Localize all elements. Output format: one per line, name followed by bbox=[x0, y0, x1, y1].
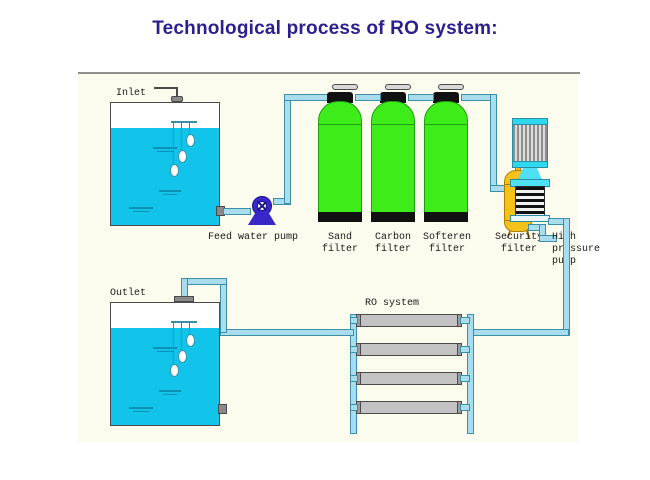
pipe-feedpump-riser bbox=[284, 94, 291, 204]
hpp-motor-bottom-cap bbox=[512, 161, 548, 168]
inlet-faucet-horizontal bbox=[154, 87, 178, 89]
softeren-filter bbox=[424, 92, 468, 232]
outlet-tank-drain-nozzle bbox=[218, 404, 227, 414]
high-pressure-pump bbox=[508, 118, 552, 222]
outlet-float-rod-mid bbox=[181, 321, 182, 351]
feed-pump-base bbox=[248, 212, 276, 225]
ro-membrane-2 bbox=[360, 343, 458, 356]
softeren-filter-inlet-arm bbox=[438, 84, 464, 90]
page-title: Technological process of RO system: bbox=[0, 18, 650, 40]
inlet-tank-water bbox=[111, 128, 219, 225]
pipe-ro-permeate-out bbox=[220, 329, 354, 336]
pipe-sand-to-carbon bbox=[355, 94, 381, 101]
carbon-filter-base bbox=[371, 212, 415, 222]
ro-branch-left-2 bbox=[350, 346, 358, 353]
outlet-water-ripple-5 bbox=[129, 407, 153, 409]
inlet-water-ripple-6 bbox=[133, 211, 149, 212]
softeren-filter-label: Softeren filter bbox=[414, 232, 480, 256]
ro-membrane-3 bbox=[360, 372, 458, 385]
outlet-tank-label: Outlet bbox=[110, 288, 146, 300]
carbon-filter-neck-line bbox=[372, 124, 414, 125]
outlet-float-rod-low bbox=[189, 321, 190, 335]
sand-filter-body bbox=[318, 101, 362, 222]
inlet-water-ripple-3 bbox=[159, 190, 181, 192]
ro-branch-left-1 bbox=[350, 317, 358, 324]
float-switch-mount bbox=[171, 121, 197, 123]
outlet-tank bbox=[110, 302, 220, 426]
carbon-filter bbox=[371, 92, 415, 232]
carbon-filter-inlet-arm bbox=[385, 84, 411, 90]
pipe-tank-to-feedpump bbox=[223, 208, 251, 215]
float-rod-high bbox=[173, 121, 174, 165]
outlet-water-ripple-2 bbox=[157, 351, 173, 352]
float-rod-mid bbox=[181, 121, 182, 151]
ro-branch-right-1 bbox=[460, 317, 470, 324]
pipe-permeate-riser bbox=[220, 278, 227, 333]
outlet-float-ball-high bbox=[170, 364, 179, 377]
float-rod-low bbox=[189, 121, 190, 135]
ro-branch-left-3 bbox=[350, 375, 358, 382]
inlet-water-ripple-4 bbox=[163, 194, 177, 195]
outlet-float-ball-low bbox=[186, 334, 195, 347]
hpp-pump-stages bbox=[515, 186, 545, 216]
softeren-filter-neck-line bbox=[425, 124, 467, 125]
hpp-base-plate bbox=[510, 215, 550, 222]
ro-branch-left-4 bbox=[350, 404, 358, 411]
feed-water-pump-label: Feed water pump bbox=[208, 232, 298, 244]
inlet-water-ripple-5 bbox=[129, 207, 153, 209]
float-ball-low bbox=[186, 134, 195, 147]
feed-water-pump bbox=[248, 196, 276, 225]
ro-branch-right-3 bbox=[460, 375, 470, 382]
outlet-water-ripple-3 bbox=[159, 390, 181, 392]
pipe-hpp-to-ro-drop bbox=[563, 218, 570, 336]
inlet-water-ripple-2 bbox=[157, 151, 173, 152]
outlet-float-ball-mid bbox=[178, 350, 187, 363]
outlet-water-ripple-6 bbox=[133, 411, 149, 412]
sand-filter-neck-line bbox=[319, 124, 361, 125]
ro-branch-right-4 bbox=[460, 404, 470, 411]
high-pressure-pump-label: High pressure pump bbox=[552, 232, 600, 268]
ro-system-label: RO system bbox=[365, 298, 419, 310]
outlet-tank-water bbox=[111, 328, 219, 425]
sand-filter-base bbox=[318, 212, 362, 222]
pipe-ro-feed-inlet bbox=[473, 329, 569, 336]
carbon-filter-body bbox=[371, 101, 415, 222]
sand-filter bbox=[318, 92, 362, 232]
outlet-float-rod-high bbox=[173, 321, 174, 365]
outlet-water-ripple-4 bbox=[163, 394, 177, 395]
float-ball-mid bbox=[178, 150, 187, 163]
outlet-float-switch-mount bbox=[171, 321, 197, 323]
ro-membrane-4 bbox=[360, 401, 458, 414]
softeren-filter-body bbox=[424, 101, 468, 222]
inlet-tank bbox=[110, 102, 220, 226]
pipe-drop-to-security bbox=[490, 94, 497, 192]
hpp-motor-body bbox=[512, 124, 548, 162]
inlet-tank-label: Inlet bbox=[116, 88, 146, 100]
ro-membrane-1 bbox=[360, 314, 458, 327]
softeren-filter-base bbox=[424, 212, 468, 222]
sand-filter-label: Sand filter bbox=[310, 232, 370, 256]
pipe-carbon-to-softeren bbox=[408, 94, 434, 101]
sand-filter-inlet-arm bbox=[332, 84, 358, 90]
slide-page: Technological process of RO system: Inle… bbox=[0, 0, 650, 480]
process-flow-diagram: Inlet bbox=[78, 74, 578, 442]
float-ball-high bbox=[170, 164, 179, 177]
ro-branch-right-2 bbox=[460, 346, 470, 353]
ro-right-manifold bbox=[467, 314, 474, 434]
